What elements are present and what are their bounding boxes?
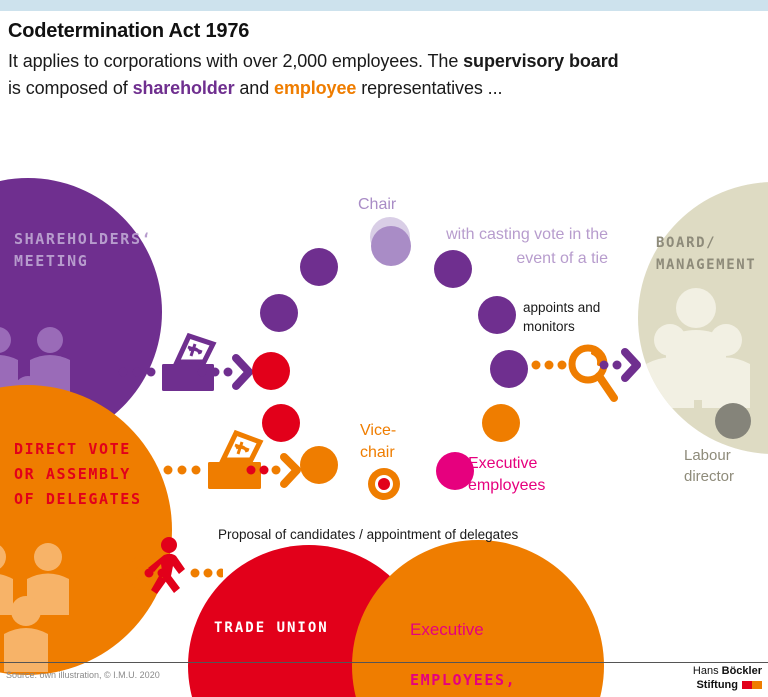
page-subtitle: It applies to corporations with over 2,0… <box>8 48 760 102</box>
annotation-vice-chair: Vice- chair <box>360 420 396 464</box>
annotation-casting-vote: with casting vote in the event of a tie <box>408 223 608 271</box>
logo-boeckler: Böckler <box>722 665 762 677</box>
labour-director-dot[interactable] <box>715 403 751 439</box>
ring-seat-purple-4[interactable] <box>478 296 516 334</box>
logo-stiftung: Stiftung <box>696 678 738 692</box>
logo-line-1: Hans Böckler <box>693 664 762 678</box>
node-direct-vote[interactable] <box>0 385 172 675</box>
ring-seat-purple-2[interactable] <box>260 294 298 332</box>
infographic-canvas: Codetermination Act 1976 It applies to c… <box>0 0 768 697</box>
page-title: Codetermination Act 1976 <box>8 18 760 44</box>
ring-seat-orange-1[interactable] <box>300 446 338 484</box>
crowd-icon <box>0 385 172 675</box>
ring-seat-red-2[interactable] <box>262 404 300 442</box>
vice-chair-inner-ring <box>375 475 393 493</box>
monitor-flow <box>531 340 646 416</box>
ring-seat-chair[interactable] <box>371 226 411 266</box>
subtitle-part-1: It applies to corporations with over 2,0… <box>8 51 463 71</box>
logo-hans: Hans <box>693 665 722 677</box>
proposal-flow <box>118 532 223 598</box>
logo-hans-boeckler-stiftung: Hans Böckler Stiftung <box>693 664 762 692</box>
annotation-executive-employees: Executive employees <box>468 453 545 497</box>
annotation-appoints-monitors: appoints and monitors <box>523 298 600 336</box>
ring-seat-red-1[interactable] <box>252 352 290 390</box>
subtitle-part-2: is composed of <box>8 78 133 98</box>
node-direct-vote-label: DIRECT VOTE OR ASSEMBLY OF DELEGATES <box>14 437 142 512</box>
chevron-right-icon <box>625 352 637 378</box>
chevron-left-icon <box>127 560 139 586</box>
node-board-management-label: BOARD/ MANAGEMENT <box>656 232 756 276</box>
chevron-right-icon <box>236 358 249 386</box>
top-accent-bar <box>0 0 768 11</box>
ring-seat-purple-5[interactable] <box>490 350 528 388</box>
header-block: Codetermination Act 1976 It applies to c… <box>8 18 760 102</box>
ballot-box-icon <box>208 433 261 489</box>
node-employees-exec-caps: EMPLOYEES, <box>410 671 516 689</box>
ring-seat-purple-1[interactable] <box>300 248 338 286</box>
annotation-chair: Chair <box>358 195 396 215</box>
logo-line-2: Stiftung <box>693 678 762 692</box>
magnifier-icon <box>572 348 614 398</box>
subtitle-and: and <box>235 78 275 98</box>
vice-chair-marker[interactable] <box>368 468 400 500</box>
annotation-labour-director: Labour director <box>684 445 734 487</box>
node-employees-label: Executive EMPLOYEES, EMPLOYEES <box>410 592 516 697</box>
chevron-right-icon <box>284 457 297 484</box>
walking-person-icon <box>148 537 185 594</box>
ring-seat-orange-2[interactable] <box>482 404 520 442</box>
ballot-box-icon <box>162 336 214 391</box>
annotation-proposal: Proposal of candidates / appointment of … <box>218 525 518 545</box>
subtitle-part-3: representatives ... <box>356 78 502 98</box>
node-shareholders-meeting-label: SHAREHOLDERS‘ MEETING <box>14 228 152 272</box>
logo-flag-icon <box>742 681 762 689</box>
node-employees-exec: Executive <box>410 620 484 639</box>
vice-chair-core <box>378 478 390 490</box>
footer-divider <box>0 662 768 663</box>
subtitle-bold-supervisory-board: supervisory board <box>463 51 618 71</box>
subtitle-shareholder: shareholder <box>133 78 235 98</box>
ballot-box-flow-purple <box>118 330 253 392</box>
subtitle-employee: employee <box>274 78 356 98</box>
source-note: Source: own illustration, © I.M.U. 2020 <box>6 670 160 680</box>
dot <box>119 368 128 377</box>
node-trade-union-label: TRADE UNION <box>214 617 329 639</box>
